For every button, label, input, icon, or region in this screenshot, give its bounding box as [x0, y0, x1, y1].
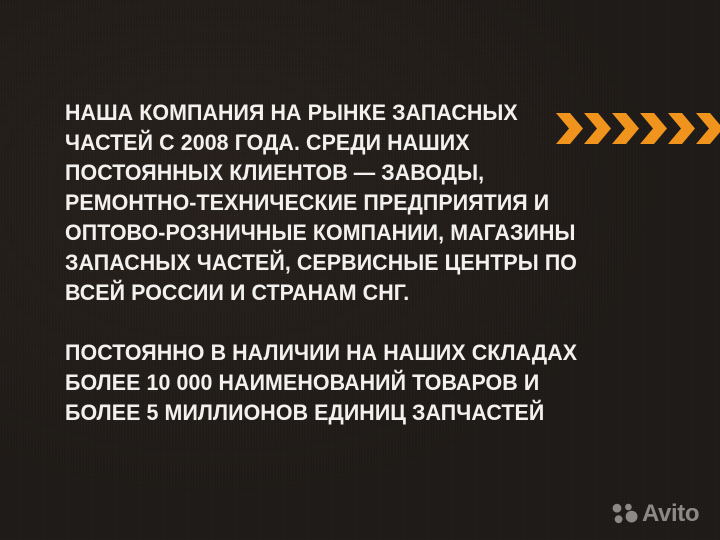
copy-line: ПОСТОЯННО В НАЛИЧИИ НА НАШИХ СКЛАДАХ [65, 338, 648, 368]
avito-dots-logo-icon [612, 502, 638, 526]
avito-watermark: Avito [612, 499, 699, 529]
copy-line: ЗАПАСНЫХ ЧАСТЕЙ, СЕРВИСНЫЕ ЦЕНТРЫ ПО [65, 248, 648, 278]
copy-line: ОПТОВО-РОЗНИЧНЫЕ КОМПАНИИ, МАГАЗИНЫ [65, 218, 648, 248]
listing-image-canvas: НАША КОМПАНИЯ НА РЫНКЕ ЗАПАСНЫХ ЧАСТЕЙ С… [0, 0, 720, 540]
paragraph-stock-availability: ПОСТОЯННО В НАЛИЧИИ НА НАШИХ СКЛАДАХ БОЛ… [65, 338, 675, 428]
copy-line: БОЛЕЕ 10 000 НАИМЕНОВАНИЙ ТОВАРОВ И [65, 368, 648, 398]
copy-line: НАША КОМПАНИЯ НА РЫНКЕ ЗАПАСНЫХ [65, 98, 648, 128]
promo-copy-block: НАША КОМПАНИЯ НА РЫНКЕ ЗАПАСНЫХ ЧАСТЕЙ С… [65, 98, 675, 428]
copy-line: ЧАСТЕЙ С 2008 ГОДА. СРЕДИ НАШИХ [65, 128, 648, 158]
avito-wordmark: Avito [642, 502, 699, 526]
copy-line: ПОСТОЯННЫХ КЛИЕНТОВ — ЗАВОДЫ, [65, 158, 648, 188]
paragraph-about-company: НАША КОМПАНИЯ НА РЫНКЕ ЗАПАСНЫХ ЧАСТЕЙ С… [65, 98, 675, 308]
copy-line: ВСЕЙ РОССИИ И СТРАНАМ СНГ. [65, 278, 648, 308]
copy-line: БОЛЕЕ 5 МИЛЛИОНОВ ЕДИНИЦ ЗАПЧАСТЕЙ [65, 398, 648, 428]
copy-line: РЕМОНТНО-ТЕХНИЧЕСКИЕ ПРЕДПРИЯТИЯ И [65, 188, 648, 218]
